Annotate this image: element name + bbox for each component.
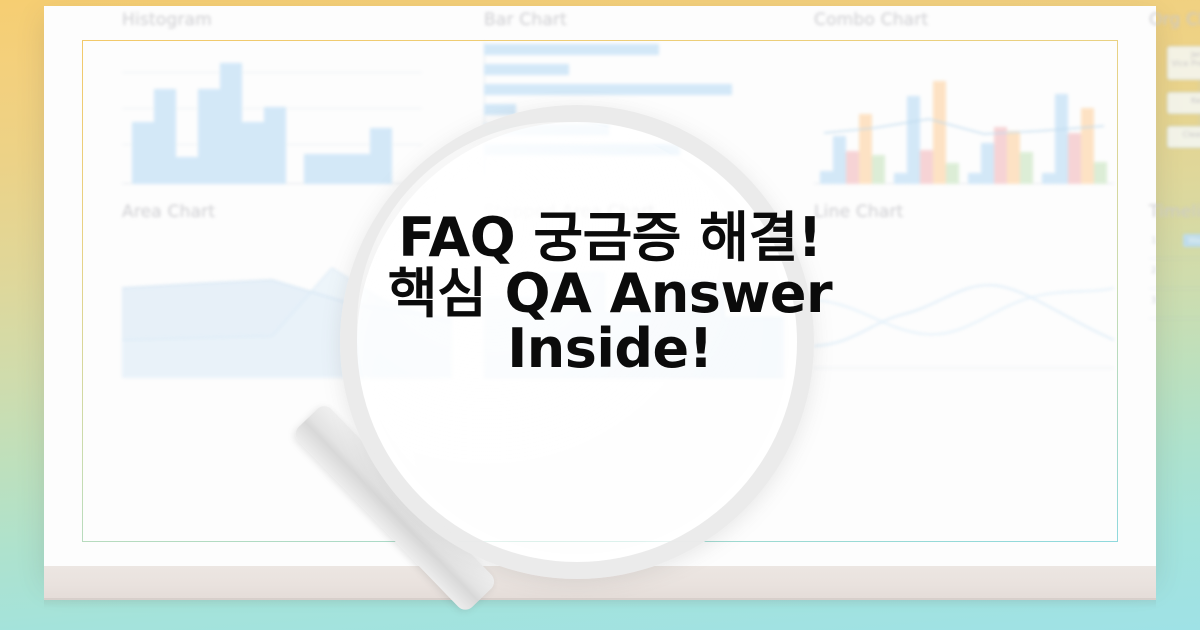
org-chart-plot: Jerry Vice President Kent Cleaners [1149, 36, 1200, 184]
org-node-name: Cleaners [1182, 130, 1200, 139]
panel-title-bar-chart: Bar Chart [484, 10, 784, 30]
headline-line-1: FAQ 궁금증 해결! [330, 210, 890, 266]
panel-title-histogram: Histogram [122, 10, 422, 30]
histogram-bar [264, 107, 286, 184]
timeline-event: Washington [1183, 234, 1200, 247]
timeline-plot: 1 2 3 Washington [1149, 228, 1200, 378]
headline-line-2: 핵심 QA Answer [330, 266, 890, 322]
bar-chart-bar [484, 44, 659, 55]
screen-bezel-shadow [44, 598, 1156, 608]
poster-canvas: Histogram [0, 0, 1200, 630]
org-node-role: Vice President [1172, 59, 1200, 68]
panel-title-combo-chart: Combo Chart [814, 10, 1114, 30]
bar-chart-bar [484, 64, 569, 75]
bar-chart-bar [484, 104, 516, 115]
page-title: FAQ 궁금증 해결! 핵심 QA Answer Inside! [330, 210, 890, 377]
histogram-bar [132, 122, 154, 184]
histogram-bar [304, 154, 326, 184]
histogram-bar [176, 157, 198, 184]
headline-line-3: Inside! [330, 321, 890, 377]
bar-chart-bar [484, 84, 732, 95]
histogram-bar [242, 122, 264, 184]
combo-chart-plot [814, 36, 1114, 184]
org-node: Jerry Vice President [1167, 46, 1200, 80]
org-node-name: Jerry [1191, 50, 1200, 59]
org-node: Cleaners [1167, 126, 1200, 148]
timeline-row-number: 3 [1151, 296, 1157, 306]
screen-bezel [44, 566, 1156, 600]
org-node: Kent [1167, 92, 1200, 114]
bar-chart-bar [484, 124, 609, 135]
panel-histogram: Histogram [122, 10, 422, 184]
panel-title-org-chart: Org Chart [1149, 10, 1200, 30]
panel-combo-chart: Combo Chart [814, 10, 1114, 184]
bar-chart-bar [484, 144, 680, 155]
histogram-bar [220, 63, 242, 184]
panel-title-timeline: Timeline [1149, 202, 1200, 222]
timeline-row-number: 2 [1151, 266, 1157, 276]
histogram-bar [348, 154, 370, 184]
bar-chart-plot [484, 36, 784, 184]
panel-org-chart: Org Chart Jerry Vice President Kent Clea… [1149, 10, 1200, 184]
histogram-plot [122, 36, 422, 184]
histogram-bar [154, 89, 176, 184]
histogram-bar [198, 89, 220, 184]
panel-bar-chart: Bar Chart [484, 10, 784, 184]
histogram-bar [370, 128, 392, 184]
timeline-row-number: 1 [1151, 236, 1157, 246]
panel-timeline: Timeline 1 2 3 Washington [1149, 202, 1200, 378]
org-node-name: Kent [1191, 96, 1200, 105]
combo-trend-line [814, 36, 1114, 184]
histogram-bar [326, 154, 348, 184]
